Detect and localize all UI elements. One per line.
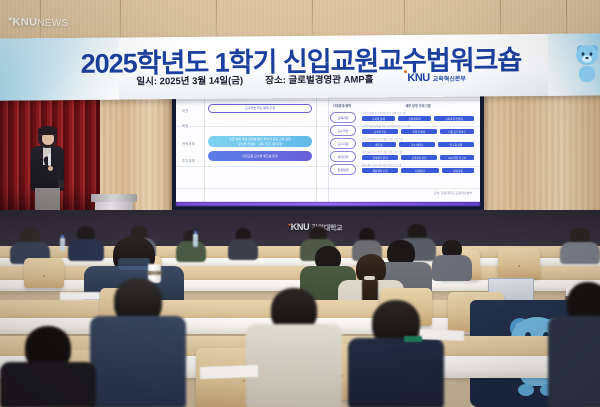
slide-row-1-btn-2: 티칭 포트폴리오 bbox=[440, 129, 474, 134]
slide-row-label-4: 환류체계 bbox=[330, 164, 356, 175]
presentation-slide: 비전 목표 전략과제 추진과제 교수학습 혁신 체계 구축 수업 설계 역량 강… bbox=[176, 92, 480, 202]
speaker-fringe bbox=[38, 126, 57, 135]
slide-pill-vision: 교수학습 혁신 체계 구축 bbox=[208, 104, 312, 113]
slide-row-3-btn-1: 교육성과 진단 bbox=[401, 155, 437, 160]
banner-logo-mark: KNU bbox=[407, 72, 429, 84]
slide-row-label-3: 성과관리 bbox=[330, 151, 356, 162]
slide-row-1-btn-0: 교수법 특강 bbox=[362, 129, 398, 134]
slide-row-2-btn-0: 멘토링 bbox=[362, 142, 396, 147]
banner-logo-sub: 교육혁신본부 bbox=[433, 73, 466, 82]
slide-left-label-1: 목표 bbox=[182, 123, 188, 128]
watermark-suffix: NEWS bbox=[37, 18, 68, 29]
audience-person-foreground bbox=[348, 300, 444, 407]
wall-wood-right bbox=[482, 92, 600, 212]
slide-row-caption-1: 교수법 역량 강화를 위한 교수학습 지원 프로그램 bbox=[362, 124, 410, 128]
audience-person bbox=[10, 228, 50, 262]
audience-person-foreground bbox=[0, 326, 96, 407]
slide-col-header-left: 기대효과/영역 bbox=[328, 103, 356, 108]
banner-bear-mascot-icon bbox=[572, 40, 598, 86]
handout-paper bbox=[420, 329, 464, 341]
slide-col-header-right: 세부 운영 프로그램 bbox=[362, 103, 474, 108]
speaker-presenter bbox=[26, 126, 70, 222]
slide-row-1-btn-1: 수업 컨설팅 bbox=[401, 129, 437, 134]
water-bottle bbox=[193, 234, 198, 247]
slide-row-2-btn-2: 연구회 지원 bbox=[438, 142, 474, 147]
slide-row-3-btn-0: 강의평가 분석 bbox=[362, 155, 398, 160]
audience-person bbox=[560, 228, 600, 262]
audience-person-foreground bbox=[246, 288, 342, 407]
slide-row-4-btn-2: 성과공유 bbox=[442, 168, 474, 173]
slide-row-caption-4: 환류 결과 기반 교육 개선 지원 프로그램 bbox=[362, 163, 401, 167]
slide-left-label-3: 추진과제 bbox=[182, 158, 195, 163]
lecture-chair bbox=[498, 248, 540, 278]
screen-edge-glow bbox=[176, 202, 480, 206]
slide-row-0-btn-1: 강의계획서 bbox=[398, 116, 431, 121]
projection-screen: 비전 목표 전략과제 추진과제 교수학습 혁신 체계 구축 수업 설계 역량 강… bbox=[176, 92, 480, 202]
knu-news-watermark: ●KNUNEWS bbox=[8, 16, 68, 29]
speaker-clicker bbox=[58, 180, 64, 188]
slide-row-0-btn-2: 교육과정 컨설팅 bbox=[434, 116, 474, 121]
audience-person bbox=[432, 240, 472, 280]
slide-row-caption-2: 신임교원 정착 및 교수활동 지원 프로그램 bbox=[362, 137, 403, 141]
slide-row-0-btn-0: 교과목 설계 bbox=[362, 116, 395, 121]
slide-pill-task: 신임교원 교수법 워크숍 운영 bbox=[208, 151, 312, 161]
handout-paper bbox=[60, 292, 100, 300]
slide-row-caption-3: 교육 성과 분석 및 질 관리 지원 프로그램 bbox=[362, 150, 402, 154]
slide-row-label-0: 교육과정 bbox=[330, 112, 356, 123]
banner-venue: 장소: 글로벌경영관 AMP홀 bbox=[265, 71, 373, 86]
event-banner: 2025학년도 1학기 신입교원교수법워크숍 일시: 2025년 3월 14일(… bbox=[0, 33, 600, 100]
photo-canvas: ●KNUNEWS 비전 목표 전략과제 추진과제 교수학습 혁신 체계 구축 bbox=[0, 0, 600, 407]
slide-row-label-2: 교수지원 bbox=[330, 138, 356, 149]
slide-row-4-btn-0: 개선계획 수립 bbox=[362, 168, 398, 173]
slide-row-caption-0: 교과목 설계 및 교육과정 운영 지원 프로그램 bbox=[362, 111, 406, 115]
slide-footnote: 출처: 강원대학교 교육혁신본부 bbox=[434, 191, 472, 195]
banner-date: 일시: 2025년 3월 14일(금) bbox=[136, 73, 243, 88]
slide-row-2-btn-1: 교수 세미나 bbox=[399, 142, 435, 147]
audience-person bbox=[228, 228, 258, 260]
slide-row-3-btn-2: CQI 환류 보고서 bbox=[440, 155, 474, 160]
microphone bbox=[48, 153, 51, 166]
handout-paper bbox=[200, 365, 258, 379]
slide-row-label-1: 교수학습 bbox=[330, 125, 356, 136]
slide-left-label-2: 전략과제 bbox=[182, 141, 195, 146]
water-bottle bbox=[60, 238, 65, 251]
slide-row-4-btn-1: 이행점검 bbox=[401, 168, 439, 173]
slide-pill-strategy: 수업 설계 역량 강화를 통한 학습자 중심 교육 실현 교수법 컨설팅 · 교… bbox=[208, 136, 312, 147]
lecture-chair bbox=[24, 258, 64, 288]
banner-knu-logo: KNU 교육혁신본부 bbox=[407, 72, 466, 85]
watermark-brand: KNU bbox=[13, 17, 38, 29]
marker-pen bbox=[404, 336, 422, 342]
slide-left-label-0: 비전 bbox=[182, 108, 188, 113]
projection-screen-frame: 비전 목표 전략과제 추진과제 교수학습 혁신 체계 구축 수업 설계 역량 강… bbox=[172, 90, 484, 212]
audience-collar bbox=[118, 258, 150, 270]
hair-tie bbox=[364, 276, 375, 280]
audience-person-foreground bbox=[90, 278, 186, 407]
lectern-top bbox=[91, 194, 137, 202]
audience-person-foreground bbox=[548, 282, 600, 407]
speaker-hand bbox=[48, 166, 53, 171]
